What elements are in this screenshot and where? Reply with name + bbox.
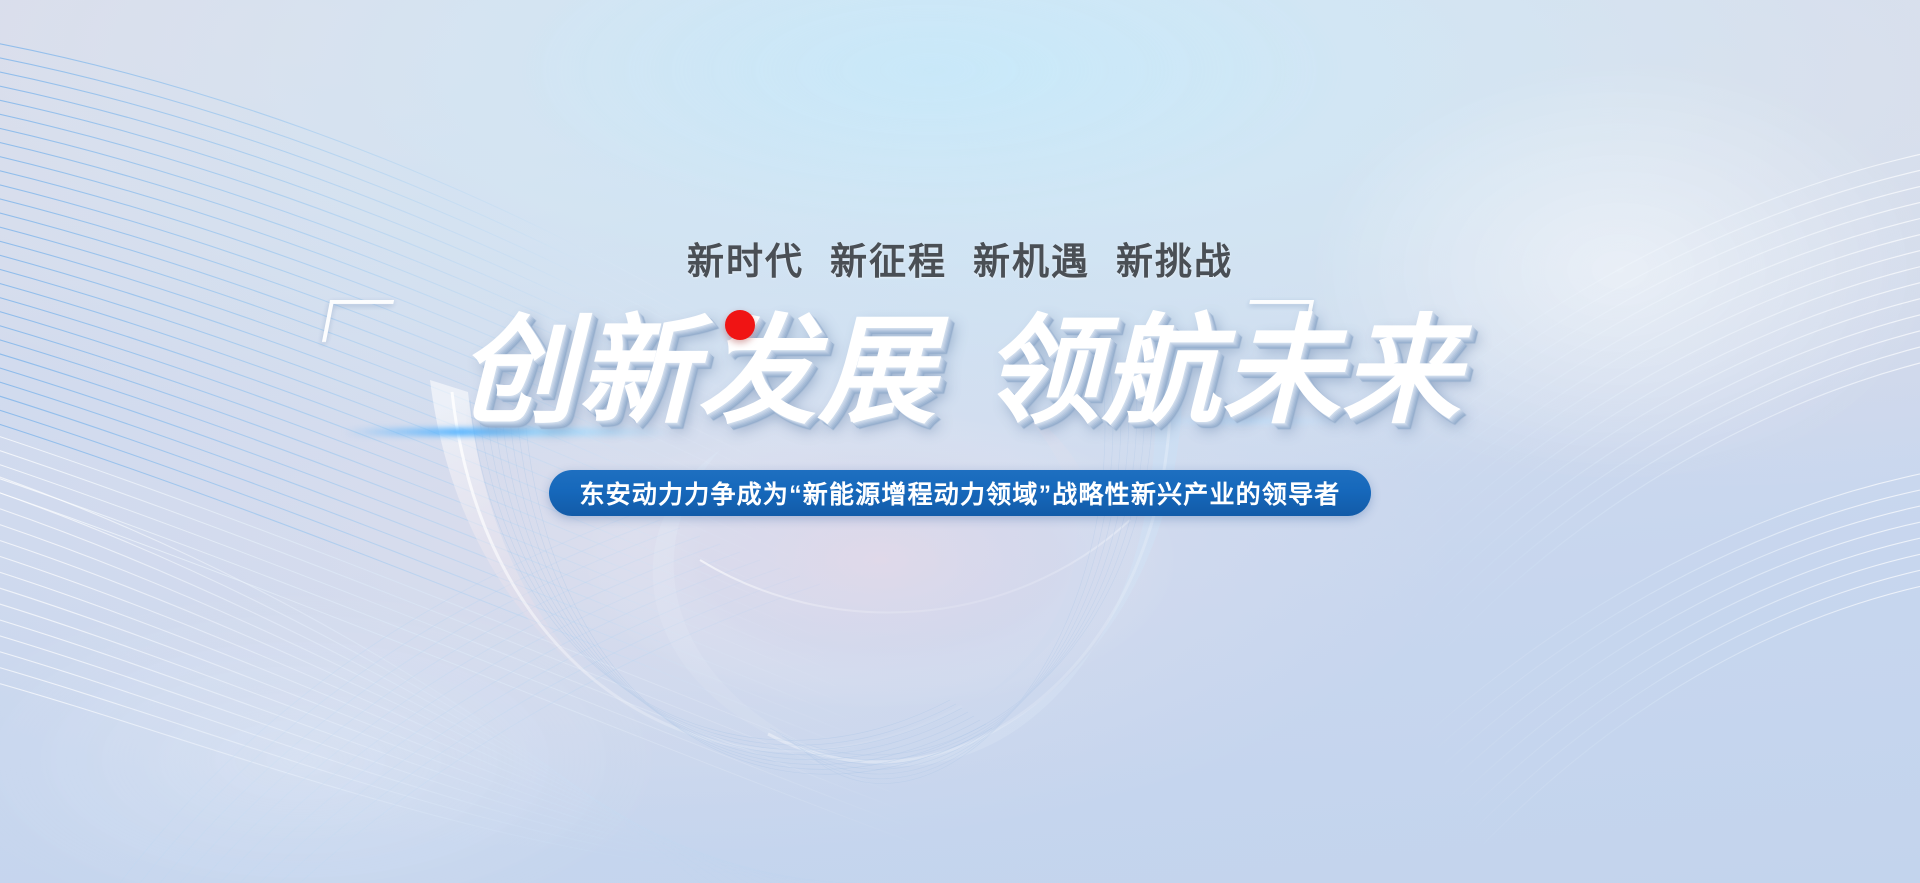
kicker-segment-2: 新征程 (830, 231, 947, 285)
banner-headline: 创新发展领航未来 (458, 312, 1462, 430)
slogan-pill: 东安动力力争成为“新能源增程动力领域”战略性新兴产业的领导者 (549, 470, 1370, 516)
headline-wrap: 创新发展领航未来 (310, 296, 1610, 446)
banner-stage: 新时代新征程新机遇新挑战 创新发展领航未来 东安动力力争成为“新能源增程动力领域… (0, 0, 1920, 883)
slogan-pill-text: 东安动力力争成为“新能源增程动力领域”战略性新兴产业的领导者 (579, 475, 1340, 511)
headline-part-2: 领航未来 (982, 302, 1462, 440)
kicker-segment-1: 新时代 (687, 231, 804, 285)
kicker-segment-3: 新机遇 (973, 231, 1090, 285)
headline-part-1: 创新发展 (458, 302, 938, 440)
red-accent-dot-icon (725, 310, 755, 340)
banner-content: 新时代新征程新机遇新挑战 创新发展领航未来 东安动力力争成为“新能源增程动力领域… (0, 0, 1920, 883)
bracket-left-icon (322, 300, 394, 342)
banner-kicker: 新时代新征程新机遇新挑战 (687, 231, 1233, 285)
kicker-segment-4: 新挑战 (1116, 231, 1233, 285)
